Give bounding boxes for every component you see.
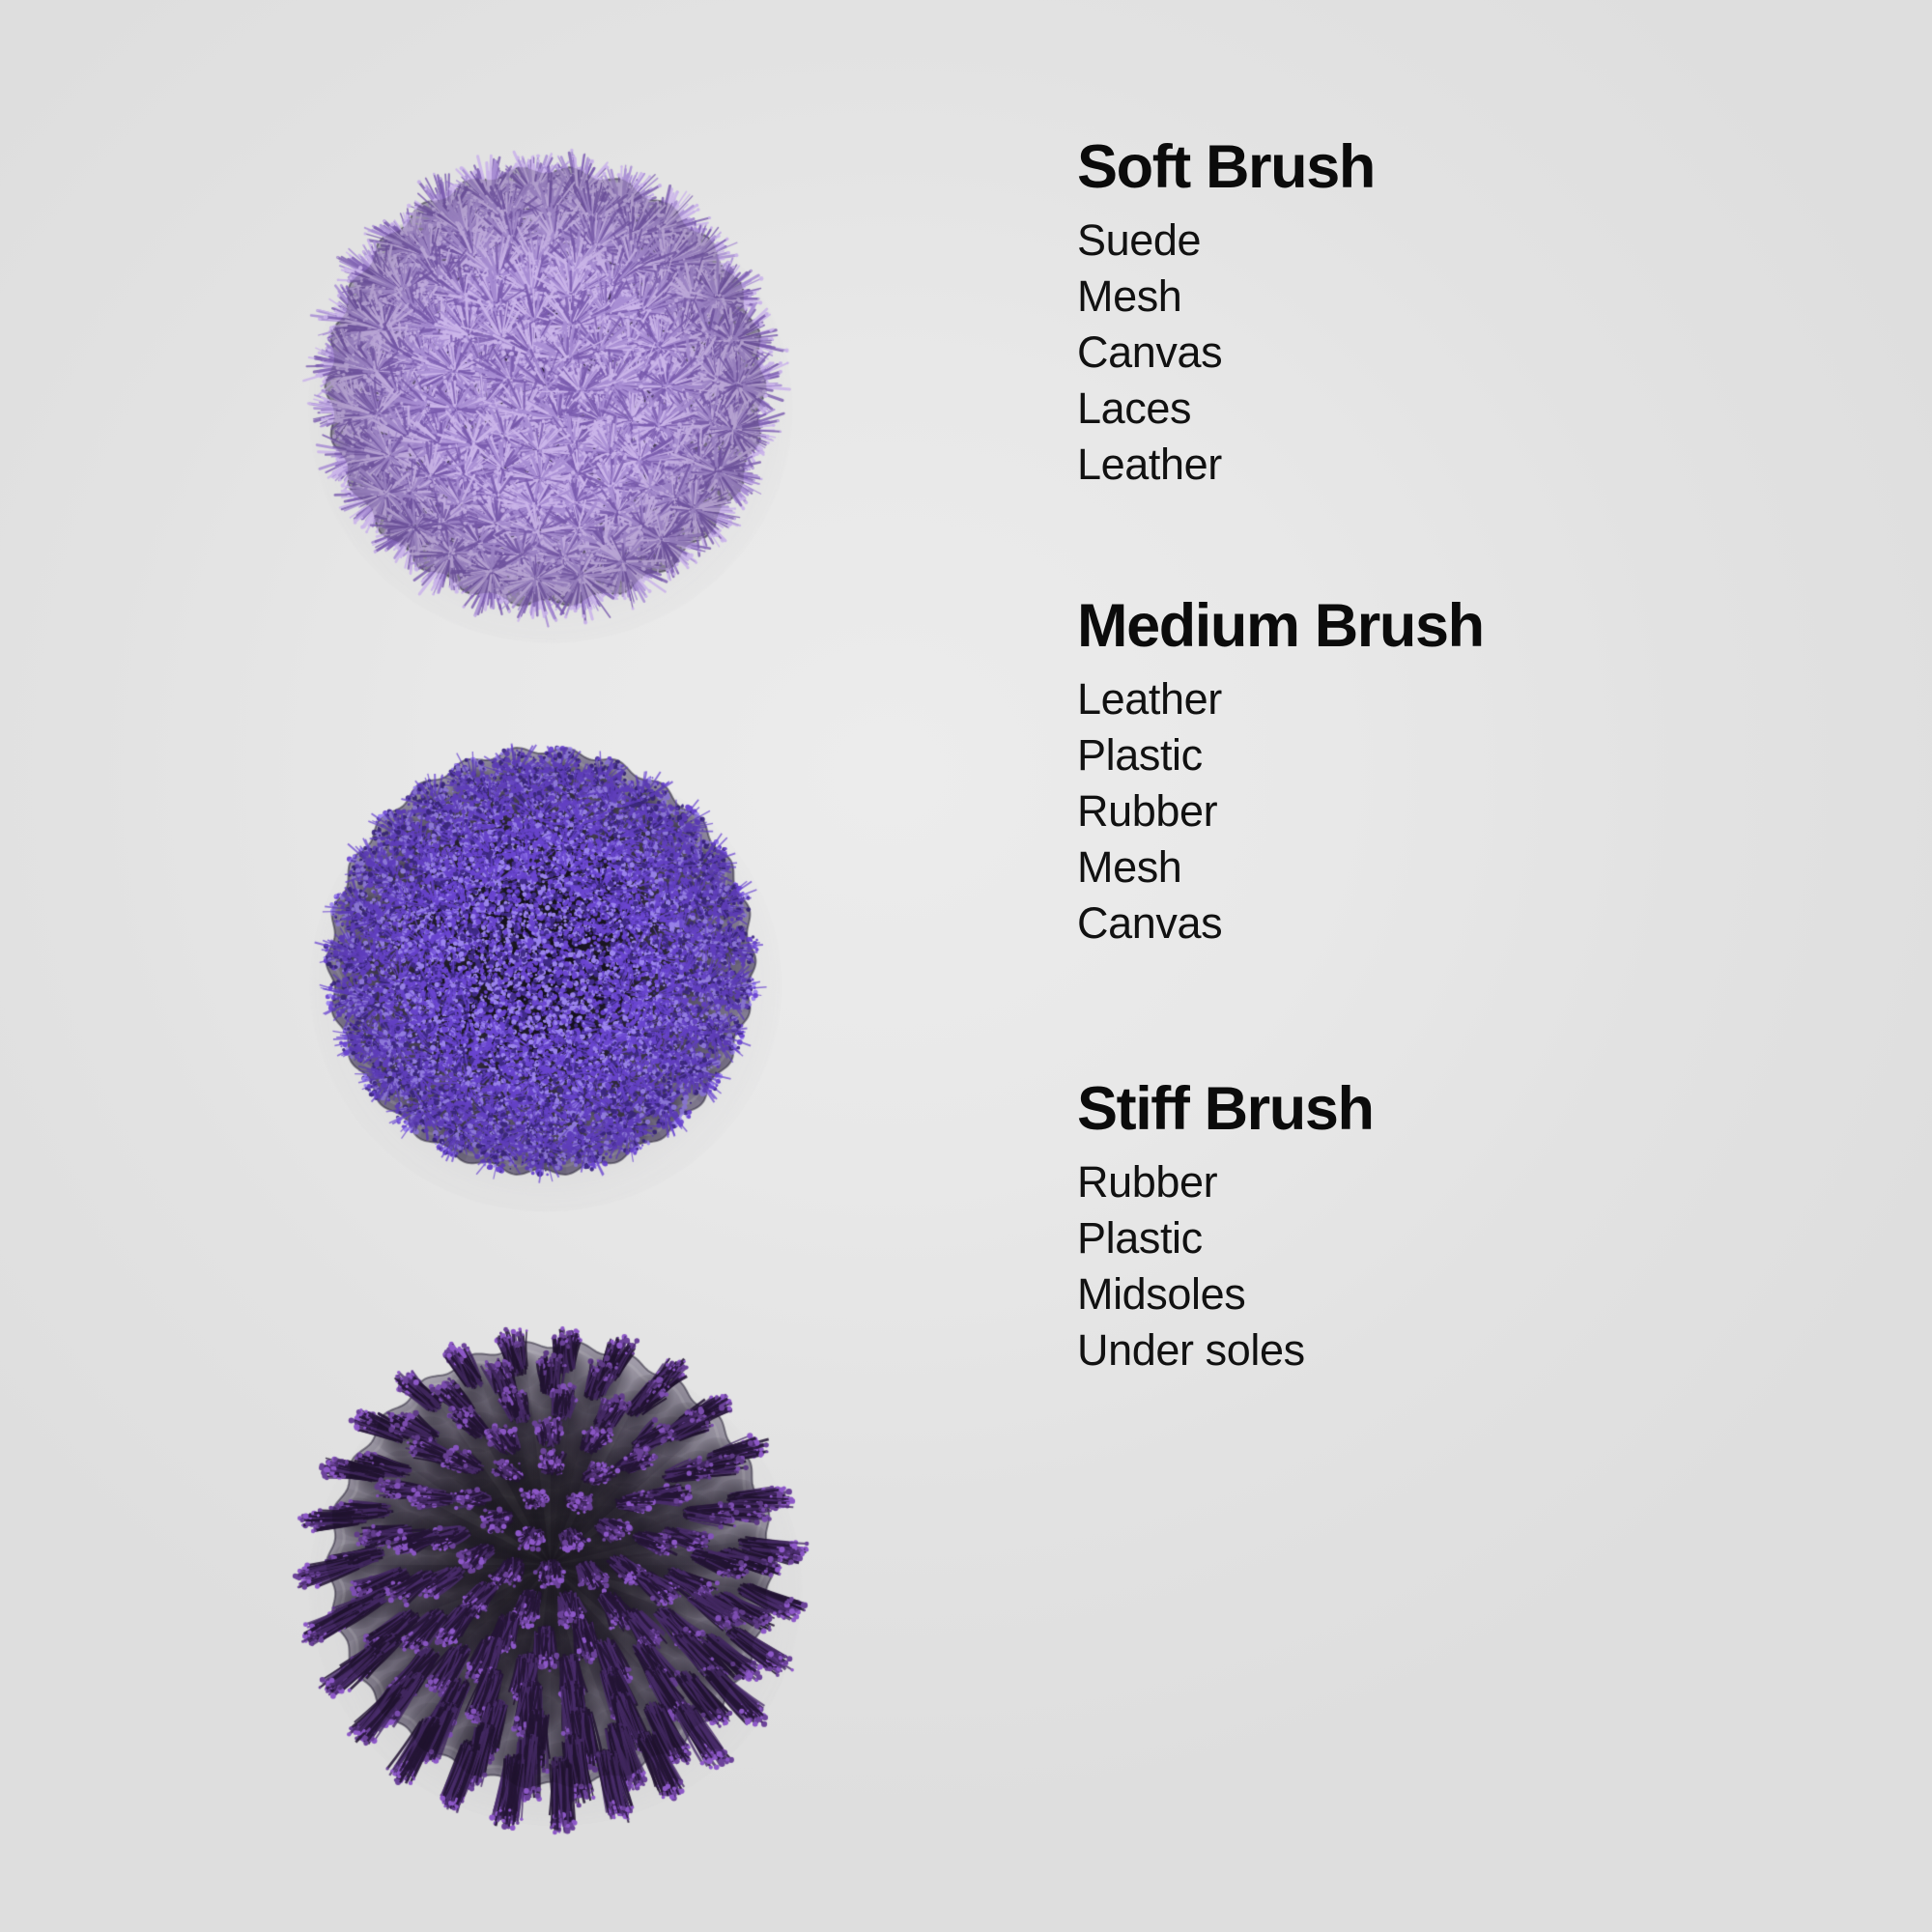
brush-block-soft: Soft Brush Suede Mesh Canvas Laces Leath… bbox=[1077, 135, 1889, 493]
list-item: Rubber bbox=[1077, 783, 1889, 839]
list-item: Under soles bbox=[1077, 1322, 1889, 1378]
list-item: Laces bbox=[1077, 381, 1889, 437]
list-item: Rubber bbox=[1077, 1154, 1889, 1210]
specs-column: Soft Brush Suede Mesh Canvas Laces Leath… bbox=[1077, 0, 1889, 1932]
medium-brush-canvas bbox=[270, 691, 811, 1232]
soft-brush-heading: Soft Brush bbox=[1077, 135, 1889, 199]
list-item: Midsoles bbox=[1077, 1266, 1889, 1322]
list-item: Plastic bbox=[1077, 1210, 1889, 1266]
medium-brush-heading: Medium Brush bbox=[1077, 594, 1889, 658]
list-item: Leather bbox=[1077, 437, 1889, 493]
list-item: Canvas bbox=[1077, 325, 1889, 381]
stiff-brush-canvas bbox=[270, 1285, 831, 1845]
soft-brush-material-list: Suede Mesh Canvas Laces Leather bbox=[1077, 213, 1889, 493]
list-item: Mesh bbox=[1077, 269, 1889, 325]
soft-brush-photo bbox=[275, 116, 816, 657]
list-item: Suede bbox=[1077, 213, 1889, 269]
stiff-brush-material-list: Rubber Plastic Midsoles Under soles bbox=[1077, 1154, 1889, 1378]
stiff-brush-heading: Stiff Brush bbox=[1077, 1077, 1889, 1141]
medium-brush-photo bbox=[270, 691, 811, 1232]
list-item: Mesh bbox=[1077, 839, 1889, 895]
medium-brush-material-list: Leather Plastic Rubber Mesh Canvas bbox=[1077, 671, 1889, 952]
stiff-brush-photo bbox=[270, 1285, 831, 1845]
list-item: Plastic bbox=[1077, 727, 1889, 783]
list-item: Canvas bbox=[1077, 895, 1889, 952]
brush-block-stiff: Stiff Brush Rubber Plastic Midsoles Unde… bbox=[1077, 1077, 1889, 1378]
product-stage: Soft Brush Suede Mesh Canvas Laces Leath… bbox=[0, 0, 1932, 1932]
brush-block-medium: Medium Brush Leather Plastic Rubber Mesh… bbox=[1077, 594, 1889, 952]
list-item: Leather bbox=[1077, 671, 1889, 727]
soft-brush-canvas bbox=[275, 116, 816, 657]
